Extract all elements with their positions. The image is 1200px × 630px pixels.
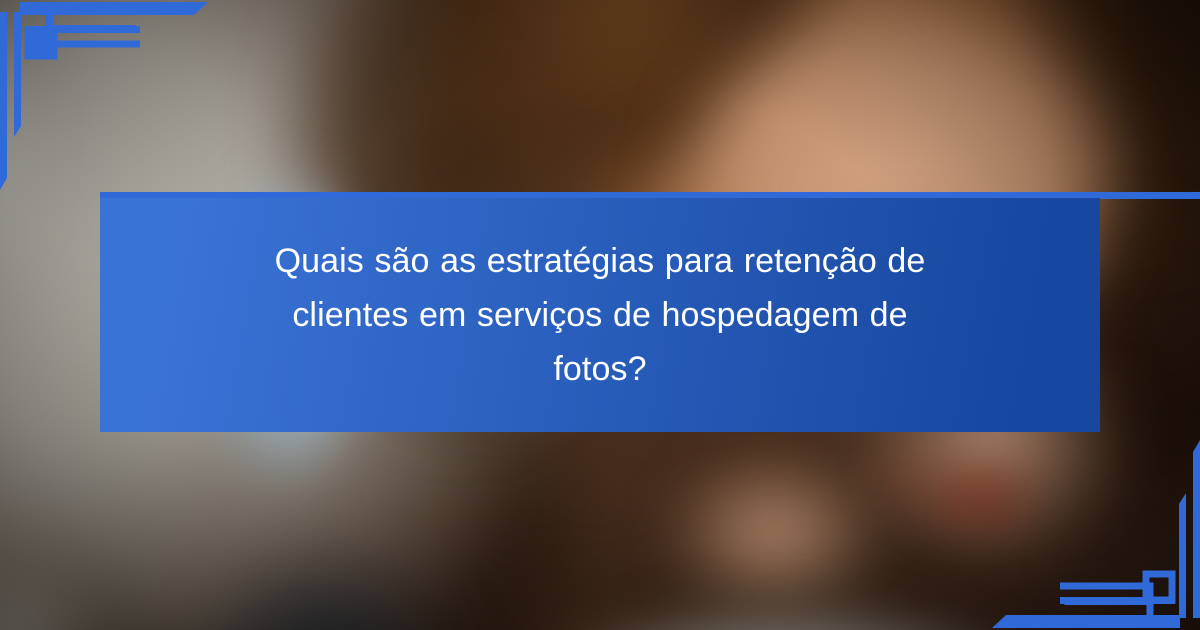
headline-text: Quais são as estratégias para retenção d…	[250, 234, 950, 396]
quote-card: Quais são as estratégias para retenção d…	[0, 0, 1200, 630]
headline-banner: Quais são as estratégias para retenção d…	[100, 198, 1100, 432]
